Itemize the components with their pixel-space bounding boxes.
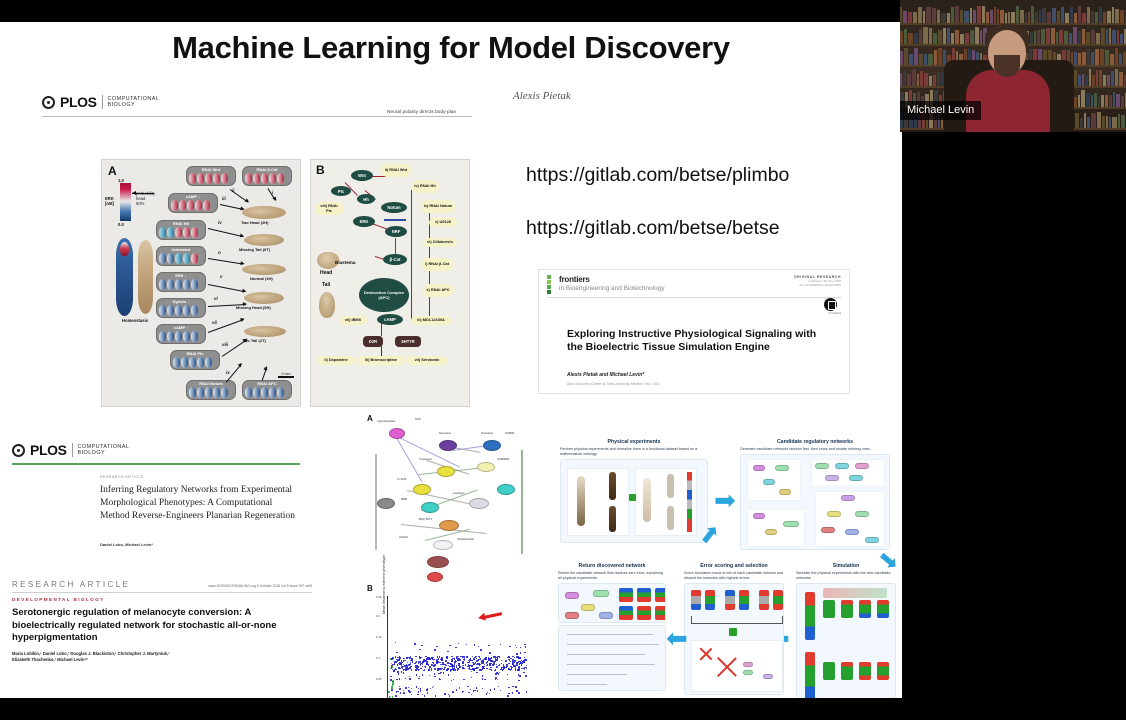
plos-header: PLOS COMPUTATIONAL BIOLOGY Neural polari… [42,94,482,117]
workflow-desc-physical-experiments: Perform physical experiments and formali… [560,447,708,457]
panel-letter-a: A [108,164,117,178]
y-tick: 0.2 [376,614,380,618]
arrow-right-icon: ➡ [714,487,736,513]
treatment-label: RNAi β-Cat [242,167,292,172]
output-tail-image [319,292,335,318]
frontiers-affiliation: Allen Discovery Center at Tufts Universi… [567,382,659,386]
scatter-axes: Mean distance to extreme phenotype Exper… [387,596,527,698]
graph-node-label: Reserpine [439,432,451,435]
graph-node-label: NOS [415,418,421,421]
graph-node-label: MMB [401,498,407,501]
panel-letter-b: B [367,584,373,593]
plos-logo-icon [12,444,25,457]
treatment-untreated: Untreated [156,246,206,266]
node-camp: cAMP [377,314,403,325]
arrow-v [208,284,245,292]
node-notum: Notum [381,202,407,213]
graph-node [439,520,459,531]
workflow-desc-error-scoring: Score simulation result errors of each c… [684,571,784,581]
arrow-curve-up-icon: ➡ [694,520,725,551]
journal-meta: www.SCIENCESIGNALING.org 6 October 2015 … [208,584,312,588]
graph-node-label: ACSG9 [399,536,408,539]
article-type: RESEARCH ARTICLE [12,580,130,589]
node-destruction-complex: Destruction Complex (APC) [359,278,409,312]
red-arrow-annotation [484,612,502,619]
treatment-rnai-hh: RNAi Hh [156,220,206,240]
signaling-authors-line2: Elizabeth Tkachenko,¹ Michael Levin¹* [12,657,312,663]
y-tick: 0.25 [376,595,381,599]
callout-u0126: v) U0126 [429,218,457,227]
plos-journal-line2: BIOLOGY [78,450,130,457]
treatment-label: cAMP ↓ [168,194,218,199]
arrow-number: ii [232,188,234,193]
phenotype-label: Normal (1H) [250,276,273,281]
divider [12,592,312,593]
workflow-desc-candidate-networks: Generate candidate networks random first… [740,447,890,452]
treatment-label: RNAi Ptc [170,351,220,356]
discard-x-icon [697,646,713,662]
workflow-title-candidate-networks: Candidate regulatory networks [740,439,890,445]
output-head-label: Head [320,270,332,276]
treatment-camp-up: cAMP ↑ [156,324,206,344]
callout-rnai-ptc: viii) RNAi Ptc [315,202,343,215]
treatment-rnai-ptc: RNAi Ptc [170,350,220,370]
divider [547,297,841,298]
frontiers-subtitle: in Bioengineering and Biotechnology [559,285,665,292]
node-bcat: β-Cat [383,254,407,265]
output-tail-label: Tail [322,282,330,288]
graph-node [497,484,515,495]
y-tick: 0.15 [376,635,381,639]
graph-node [377,498,395,509]
graph-node [427,556,449,568]
plos-journal-line2: BIOLOGY [108,102,160,109]
treatment-rnai-apc: RNAi APC [242,380,292,400]
colorbar-note-line3: 50% [136,201,155,206]
callout-ibmx: vii) IBMX [339,316,367,325]
treatment-rnai-notum: RNAi Notum [186,380,236,400]
divider [102,95,103,109]
graph-node-label: Fluoxetine [481,432,493,435]
graph-node-label: SU6656 [505,432,514,435]
figure-caption: Neural polarity directs body-plan [387,109,456,114]
phenotype-label: Missing Head (0H) [236,305,271,310]
homeostasis-label: Homeostasis [122,318,148,323]
arrow-number: ix [226,370,230,375]
phenotype-label: Two Head (2H) [241,220,268,225]
y-tick: 0.1 [376,656,380,660]
phenotype-two-head [242,206,286,219]
worm-anatomy [138,240,153,314]
frontiers-authors: Alexis Pietak and Michael Levin* [567,372,644,378]
graph-node-label: Bis(I) 5HT1 [419,518,432,521]
graph-node [427,572,443,582]
arrow-number: vii [212,320,217,325]
node-hh: Hh [357,194,375,204]
arrow-iii [220,204,244,210]
scatter-plot-panel: B Mean distance to extreme phenotype Exp… [365,584,537,698]
phenotype-label: Missing Tail (0T) [239,247,270,252]
erk-colorbar [120,183,131,221]
graph-node [389,428,405,439]
workflow-title-error-scoring: Error scoring and selection [684,563,784,569]
frontiers-logo-icon [547,275,556,284]
plos-paper: PLOS COMPUTATIONAL BIOLOGY RESEARCH ARTI… [12,442,300,552]
colorbar-label-line2: [nM] [105,201,114,206]
treatment-label: RNAi APC [242,381,292,386]
y-tick: 0.05 [376,677,381,681]
arrow-number: iv [218,220,222,225]
signaling-paper-title: Serotonergic regulation of melanocyte co… [12,607,312,645]
phenotype-two-tail [244,326,286,337]
worm-bioelectric [116,238,133,316]
regulatory-network-graph: A Cyprohe [365,414,533,579]
arrow-number: o [218,250,221,255]
treatment-camp-down: cAMP ↓ [168,193,218,213]
workflow-desc-simulation: Simulate the physical experiments with t… [796,571,896,581]
workflow-title-physical-experiments: Physical experiments [560,439,708,445]
presentation-slide: Machine Learning for Model Discovery Ale… [0,22,902,698]
model-discovery-workflow: Physical experiments Perform physical ex… [556,439,900,698]
frontiers-brand: frontiers [559,275,665,284]
callout-rnai-notum: ix) RNAi Notum [421,200,455,213]
graph-node [477,462,495,472]
callout-rnai-bcat: i) RNAi β-Cat [421,258,453,271]
treatment-label: RNAi Hh [156,221,206,226]
divider [12,463,300,465]
callout-dopamine: ii) Dopamine [317,356,355,365]
treatment-erk-down: ERK ↓ [156,272,206,292]
scale-bar: 2 mm [278,372,294,378]
plos-paper-title: Inferring Regulatory Networks from Exper… [100,484,300,524]
callout-bromocriptine: iii) Bromocriptine [357,356,405,365]
participant-name-label: Michael Levin [900,101,981,120]
frontiers-doi: doi: 10.3389/fbioe.2019.00055 [794,283,841,287]
page-title: Machine Learning for Model Discovery [0,30,902,66]
callout-rnai-apc: x) RNAi APC [423,284,453,297]
workflow-desc-return-network: Return the candidate network that reache… [558,571,666,581]
graph-node-label: nPhos(HCado) [457,538,474,541]
panel-letter-a: A [367,414,373,423]
treatment-rnai-bcat: RNAi β-Cat [242,166,292,186]
colorbar-min: 0.0 [118,222,124,227]
colorbar-max: 1.0 [118,178,124,183]
graph-node [469,498,489,509]
link-betse[interactable]: https://gitlab.com/betse/betse [526,217,780,240]
treatment-label: ERK ↓ [156,273,206,278]
callout-serotonin: vii) Serotonin [407,356,447,365]
arrow-iv [208,228,243,237]
blastema-label: Blastema [335,260,355,265]
graph-node-label: Cyproheptadine [377,420,395,423]
graph-node [413,484,431,495]
graph-node-label: Levodopa [453,492,464,495]
crossmark-label: CrossMark [828,312,841,315]
treatment-dynein-down: Dynein ↓ [156,298,206,318]
slide-author: Alexis Pietak [513,90,571,102]
arrow-number: iii [222,196,226,201]
journal-section: DEVELOPMENTAL BIOLOGY [12,597,312,602]
plos-logo-icon [42,96,55,109]
webcam-tile[interactable]: Michael Levin [900,0,1126,132]
graph-node [437,466,455,477]
figure-panel-a: A 1.0 0.0 ERK [nM] probability head 50% … [101,159,301,407]
arrow-number: viii [222,342,228,347]
treatment-label: RNAi Notum [186,381,236,386]
arrow-number: i [272,190,273,195]
treatment-label: Dynein ↓ [156,299,206,304]
link-plimbo[interactable]: https://gitlab.com/betse/plimbo [526,164,789,187]
treatment-label: Untreated [156,247,206,252]
graph-node [421,502,439,513]
plos-brand: PLOS [60,94,97,110]
phenotype-normal [242,264,286,275]
treatment-rnai-wnt: RNAi Wnt [186,166,236,186]
node-nrf: NRF [385,226,407,237]
divider [72,443,73,457]
y-axis-label: Mean distance to extreme phenotype [382,555,386,614]
crossmark-icon [824,298,837,311]
arrow-number: x [264,366,266,371]
node-d2r: D2R [363,336,383,347]
graph-node [433,540,453,550]
phenotype-missing-tail [244,234,284,246]
callout-rnai-wnt: ii) RNAi Wnt [381,164,411,177]
divider [42,116,472,117]
plos-paper-authors: Daniel Lobo, Michael Levin* [100,542,153,547]
y-tick: 0 [376,697,378,698]
node-wnt: Wnt [351,170,373,181]
science-signaling-paper: RESEARCH ARTICLE www.SCIENCESIGNALING.or… [12,580,312,680]
homeostasis-worm-pair: Homeostasis [116,238,156,316]
discard-x-icon [713,654,739,680]
figure-panel-b: B Wnt Ptc Hh Notum ERK NRF β-Cat Destruc… [310,159,470,407]
arrow-number: vi [214,296,218,301]
workflow-title-return-network: Return discovered network [558,563,666,569]
graph-node-label: Tropisetron [419,458,432,461]
arrow-left-icon: ➡ [666,625,688,651]
node-5ht7r: 5HT7R [395,336,421,347]
arrow-number: v [220,274,222,279]
colorbar-label: ERK [nM] [105,196,114,206]
frontiers-title: Exploring Instructive Physiological Sign… [567,328,817,354]
node-erk: ERK [353,216,375,227]
callout-rnai-hh: iv) RNAi Hh [411,180,439,193]
treatment-label: cAMP ↑ [156,325,206,330]
graph-node [483,440,501,451]
node-ptc: Ptc [331,186,351,196]
person-beard [994,55,1020,77]
phenotype-missing-head [244,292,284,304]
graph-node-label: LY-1015 [397,478,406,481]
video-call-screen: Machine Learning for Model Discovery Ale… [0,0,1126,720]
workflow-title-simulation: Simulation [796,563,896,569]
arrow-o [208,258,244,264]
panel-letter-b: B [316,163,325,177]
colorbar-note: probability head 50% [136,191,155,206]
plos-brand: PLOS [30,442,67,458]
callout-ciliobrevin: vi) Ciliobrevin [423,238,457,247]
frontiers-paper: frontiers in Bioengineering and Biotechn… [538,269,850,394]
article-type: RESEARCH ARTICLE [100,475,144,479]
graph-node [439,440,457,451]
treatment-label: RNAi Wnt [186,167,236,172]
callout-mdl12330a: iii) MDL12330A [411,316,451,325]
graph-node-label: GABABR1 [497,458,509,461]
